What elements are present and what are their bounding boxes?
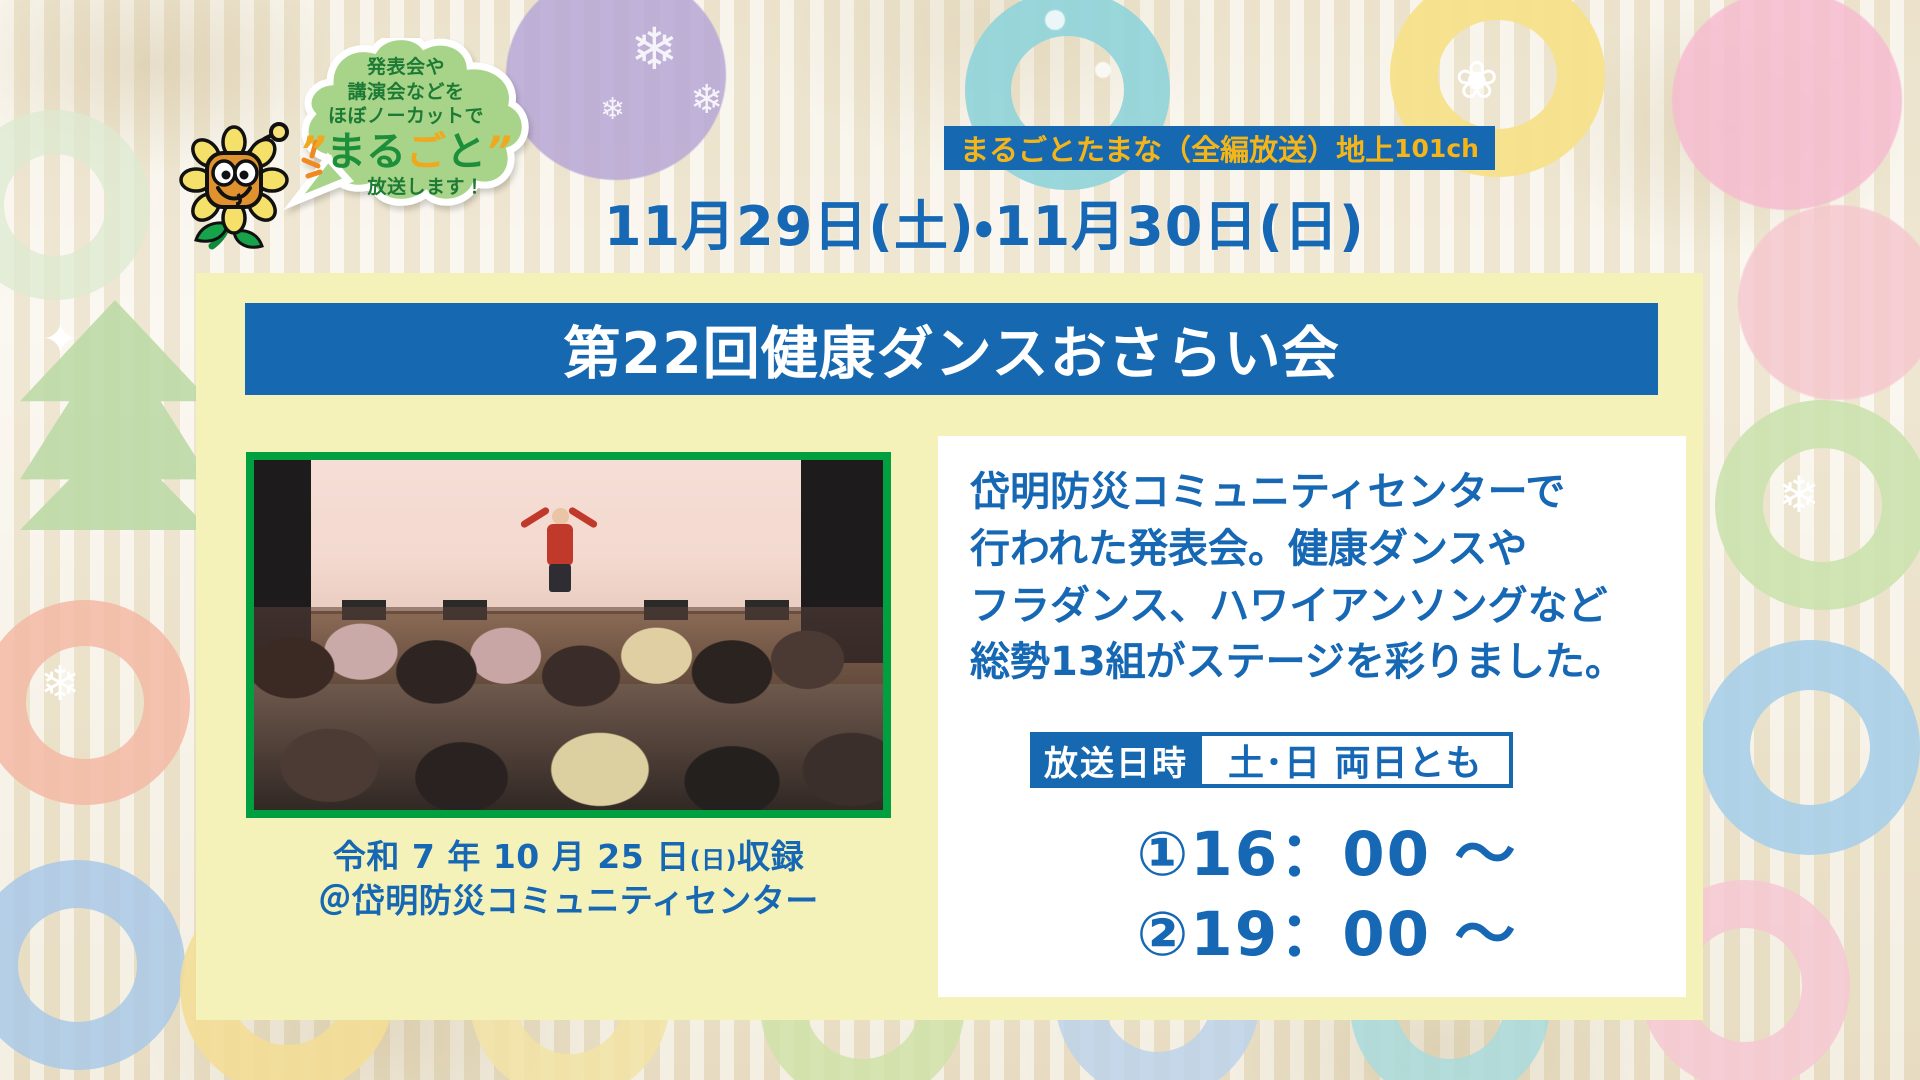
event-photo-frame [246, 452, 891, 818]
schedule-label: 放送日時 [1030, 732, 1202, 788]
photo-caption: 令和 7 年 10 月 25 日(日)収録 ＠岱明防災コミュニティセンター [246, 835, 891, 922]
caption-recorded: 収録 [737, 837, 804, 876]
description-line-2: 行われた発表会。健康ダンスや [970, 521, 1670, 578]
broadcast-time-1: ①16：00 〜 [938, 804, 1686, 893]
word-go: ご [406, 129, 446, 175]
broadcast-date-line: 11月29日(土)・11月30日(日) [604, 182, 1365, 261]
channel-number: 101ch [1394, 134, 1479, 163]
event-title-bar: 第22回健康ダンスおさらい会 [245, 303, 1658, 395]
photo-stage-performer [537, 502, 583, 592]
quote-open: ” [300, 129, 326, 175]
caption-weekday: (日) [690, 846, 737, 874]
marugoto-speech-bubble: 発表会や 講演会などを ほぼノーカットで ”まるごと” 放送します！ [272, 38, 540, 220]
caption-line-2: ＠岱明防災コミュニティセンター [246, 879, 891, 923]
bubble-line-1: 発表会や [367, 56, 445, 78]
description-line-1: 岱明防災コミュニティセンターで [970, 464, 1670, 521]
broadcast-time-2: ②19：00 〜 [938, 884, 1686, 973]
caption-line-1: 令和 7 年 10 月 25 日(日)収録 [246, 835, 891, 879]
photo-audience [254, 607, 883, 810]
quote-close: ” [486, 129, 512, 175]
poster-canvas: ❄ ❄ ❄ ❀ ✦ ❄ ❄ [0, 0, 1920, 1080]
bubble-line-2: 講演会などを [347, 81, 464, 103]
bubble-marugoto: ”まるごと” [272, 131, 540, 173]
word-to: と [446, 129, 486, 175]
schedule-value: 土･日 両日とも [1202, 732, 1513, 788]
channel-ribbon-text: まるごとたまな（全編放送）地上 [960, 127, 1394, 169]
description-line-4: 総勢13組がステージを彩りました。 [970, 634, 1670, 691]
event-description: 岱明防災コミュニティセンターで 行われた発表会。健康ダンスや フラダンス、ハワイ… [970, 464, 1670, 691]
info-card: 岱明防災コミュニティセンターで 行われた発表会。健康ダンスや フラダンス、ハワイ… [938, 436, 1686, 997]
page-title: 第22回健康ダンスおさらい会 [563, 308, 1339, 390]
bubble-line-5: 放送します！ [272, 175, 540, 200]
schedule-row: 放送日時 土･日 両日とも [1030, 732, 1513, 788]
description-line-3: フラダンス、ハワイアンソングなど [970, 578, 1670, 635]
channel-ribbon: まるごとたまな（全編放送）地上 101ch [944, 126, 1495, 170]
bubble-text: 発表会や 講演会などを ほぼノーカットで ”まるごと” 放送します！ [272, 38, 540, 220]
word-maru: まる [326, 129, 406, 175]
caption-date: 令和 7 年 10 月 25 日 [333, 837, 690, 876]
bubble-line-3: ほぼノーカットで [328, 105, 484, 127]
event-photo [254, 460, 883, 810]
